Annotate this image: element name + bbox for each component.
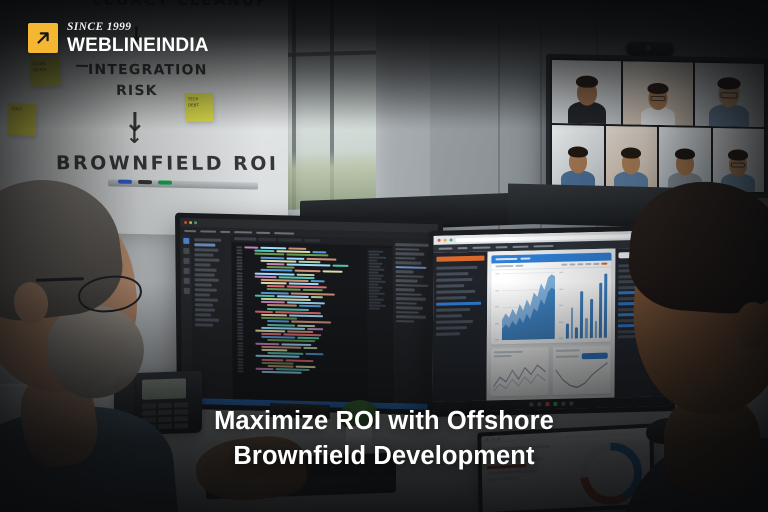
editor-code-area[interactable] bbox=[231, 235, 394, 403]
video-participant-tile bbox=[623, 61, 692, 125]
sticky-note: SCOPE NOTES bbox=[29, 58, 60, 87]
video-participant-tile bbox=[552, 125, 604, 189]
headline: Maximize ROI with Offshore Brownfield De… bbox=[0, 404, 768, 473]
video-participant-tile bbox=[695, 63, 764, 127]
whiteboard-integration-text: INTEGRATION bbox=[88, 62, 208, 78]
area-chart bbox=[495, 272, 555, 340]
small-chart-card[interactable] bbox=[552, 346, 610, 395]
dashboard-sidebar[interactable] bbox=[432, 252, 487, 402]
banner-image: LEGACY CLEANUP ↓ INTEGRATION RISK ↓ ↓ BR… bbox=[0, 0, 768, 512]
brand-tagline: SINCE 1999 bbox=[67, 22, 209, 34]
brand-logo[interactable]: SINCE 1999 WEBLINEINDIA bbox=[28, 22, 209, 55]
editor-code-lines bbox=[244, 244, 368, 402]
arrow-up-right-icon bbox=[28, 23, 58, 53]
dashboard-main-area bbox=[486, 248, 615, 400]
small-chart-card[interactable] bbox=[490, 347, 548, 396]
sticky-note: TECH DEBT bbox=[185, 93, 214, 121]
brand-name: WEBLINEINDIA bbox=[67, 36, 209, 55]
primary-button[interactable] bbox=[582, 353, 608, 360]
headline-line-2: Brownfield Development bbox=[0, 439, 768, 474]
bar-chart bbox=[559, 271, 608, 339]
whiteboard-brownfield-text: BROWNFIELD ROI bbox=[56, 152, 279, 175]
headline-line-1: Maximize ROI with Offshore bbox=[214, 407, 554, 435]
monitor-left-code-editor[interactable] bbox=[175, 213, 445, 416]
whiteboard-legacy-text: LEGACY CLEANUP bbox=[92, 0, 269, 9]
chart-card[interactable] bbox=[491, 253, 612, 345]
code-editor-window[interactable] bbox=[180, 218, 440, 410]
whiteboard-dash bbox=[76, 65, 88, 67]
video-participant-tile bbox=[552, 60, 621, 124]
sticky-note: COST bbox=[7, 103, 36, 137]
sidebar-brand bbox=[436, 256, 484, 262]
whiteboard-risk-text: RISK bbox=[116, 83, 158, 99]
whiteboard-arrow-icon: ↓ bbox=[126, 124, 143, 148]
editor-minimap[interactable] bbox=[366, 247, 394, 403]
